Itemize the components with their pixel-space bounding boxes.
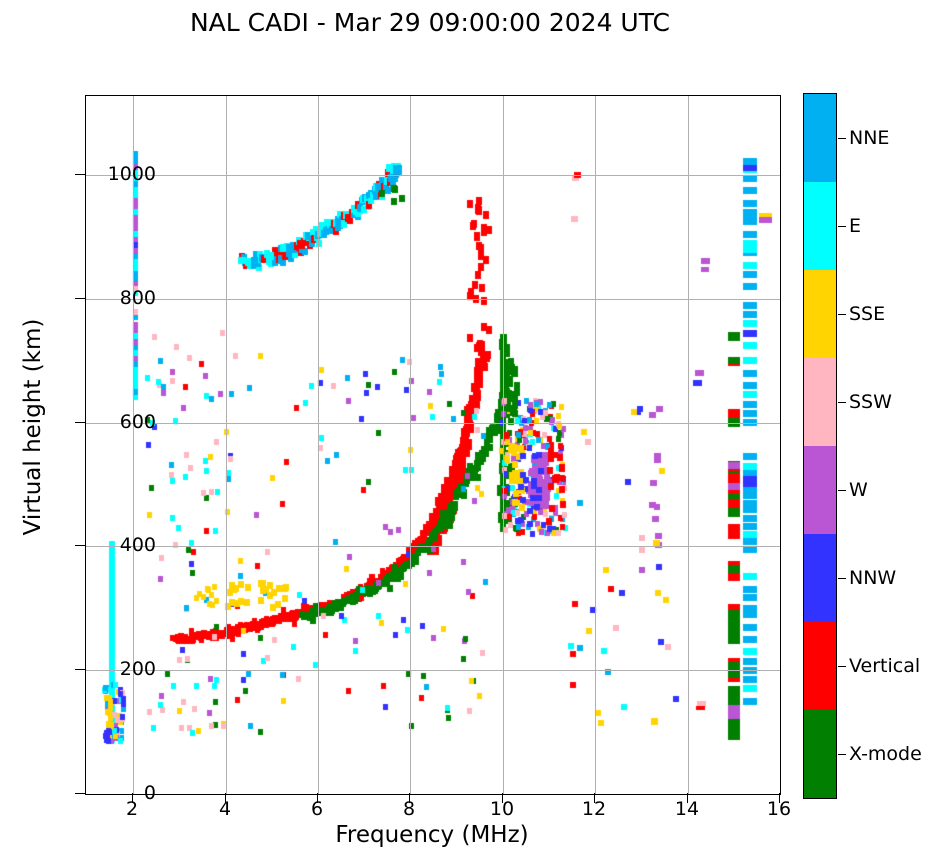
colorbar-label-vertical: Vertical [849,657,920,676]
gridline-horizontal [86,670,780,671]
colorbar-label-nnw: NNW [849,569,896,588]
colorbar-tick-mark [838,226,846,227]
colorbar-tick-mark [838,402,846,403]
colorbar-label-e: E [849,217,861,236]
x-tick-label: 8 [379,800,439,819]
gridline-horizontal [86,175,780,176]
colorbar-segment-e[interactable] [804,182,836,270]
gridline-horizontal [86,546,780,547]
ionogram-scatter-canvas [86,96,780,794]
gridline-vertical [410,96,411,794]
y-tick-mark [75,174,85,175]
x-tick-label: 12 [564,800,624,819]
gridline-vertical [318,96,319,794]
x-tick-label: 14 [657,800,717,819]
x-tick-label: 10 [472,800,532,819]
y-tick-label: 200 [120,660,156,679]
gridline-vertical [688,96,689,794]
plot-area[interactable] [85,95,781,795]
gridline-vertical [133,96,134,794]
colorbar-segment-nne[interactable] [804,94,836,182]
gridline-vertical [226,96,227,794]
y-tick-mark [75,669,85,670]
y-tick-mark [75,298,85,299]
y-tick-mark [75,422,85,423]
colorbar-tick-mark [838,138,846,139]
colorbar-label-w: W [849,481,868,500]
x-tick-label: 16 [749,800,809,819]
colorbar-segment-vertical[interactable] [804,622,836,710]
y-tick-label: 600 [120,413,156,432]
colorbar-tick-mark [838,578,846,579]
gridline-horizontal [86,299,780,300]
colorbar-tick-mark [838,754,846,755]
gridline-vertical [595,96,596,794]
colorbar-tick-mark [838,314,846,315]
colorbar-segment-ssw[interactable] [804,358,836,446]
colorbar-label-x-mode: X-mode [849,745,922,764]
colorbar-segment-nnw[interactable] [804,534,836,622]
colorbar-tick-mark [838,490,846,491]
y-axis-label: Virtual height (km) [20,257,46,597]
y-tick-mark [75,545,85,546]
x-axis-label: Frequency (MHz) [85,822,779,848]
colorbar-label-sse: SSE [849,305,885,324]
y-tick-label: 1000 [108,165,156,184]
colorbar-segment-w[interactable] [804,446,836,534]
y-tick-label: 800 [120,289,156,308]
gridline-horizontal [86,423,780,424]
colorbar-segment-x-mode[interactable] [804,710,836,798]
colorbar-label-ssw: SSW [849,393,892,412]
colorbar-label-nne: NNE [849,129,889,148]
x-tick-label: 4 [195,800,255,819]
gridline-vertical [503,96,504,794]
page-title: NAL CADI - Mar 29 09:00:00 2024 UTC [0,8,860,37]
x-tick-label: 2 [102,800,162,819]
ionogram-figure: NAL CADI - Mar 29 09:00:00 2024 UTC 0200… [0,0,951,856]
x-tick-label: 6 [287,800,347,819]
azimuth-colorbar[interactable] [803,93,837,799]
colorbar-tick-mark [838,666,846,667]
y-tick-label: 400 [120,536,156,555]
colorbar-segment-sse[interactable] [804,270,836,358]
y-tick-mark [75,793,85,794]
